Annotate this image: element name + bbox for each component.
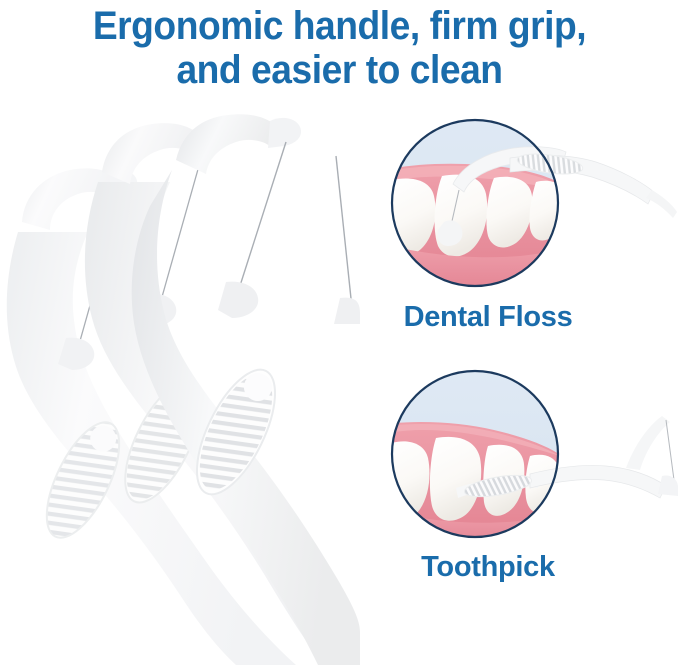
toothpick-label: Toothpick	[390, 552, 586, 582]
toothpick-inset	[390, 368, 679, 550]
infographic-canvas: Ergonomic handle, firm grip, and easier …	[0, 0, 679, 665]
dental-floss-label: Dental Floss	[390, 302, 586, 332]
page-title: Ergonomic handle, firm grip, and easier …	[24, 4, 655, 92]
page-title-line-2: and easier to clean	[24, 48, 655, 92]
dental-floss-inset	[390, 118, 679, 298]
floss-pick-3	[132, 114, 360, 665]
floss-picks-illustration	[0, 112, 360, 665]
page-title-line-1: Ergonomic handle, firm grip,	[24, 4, 655, 48]
